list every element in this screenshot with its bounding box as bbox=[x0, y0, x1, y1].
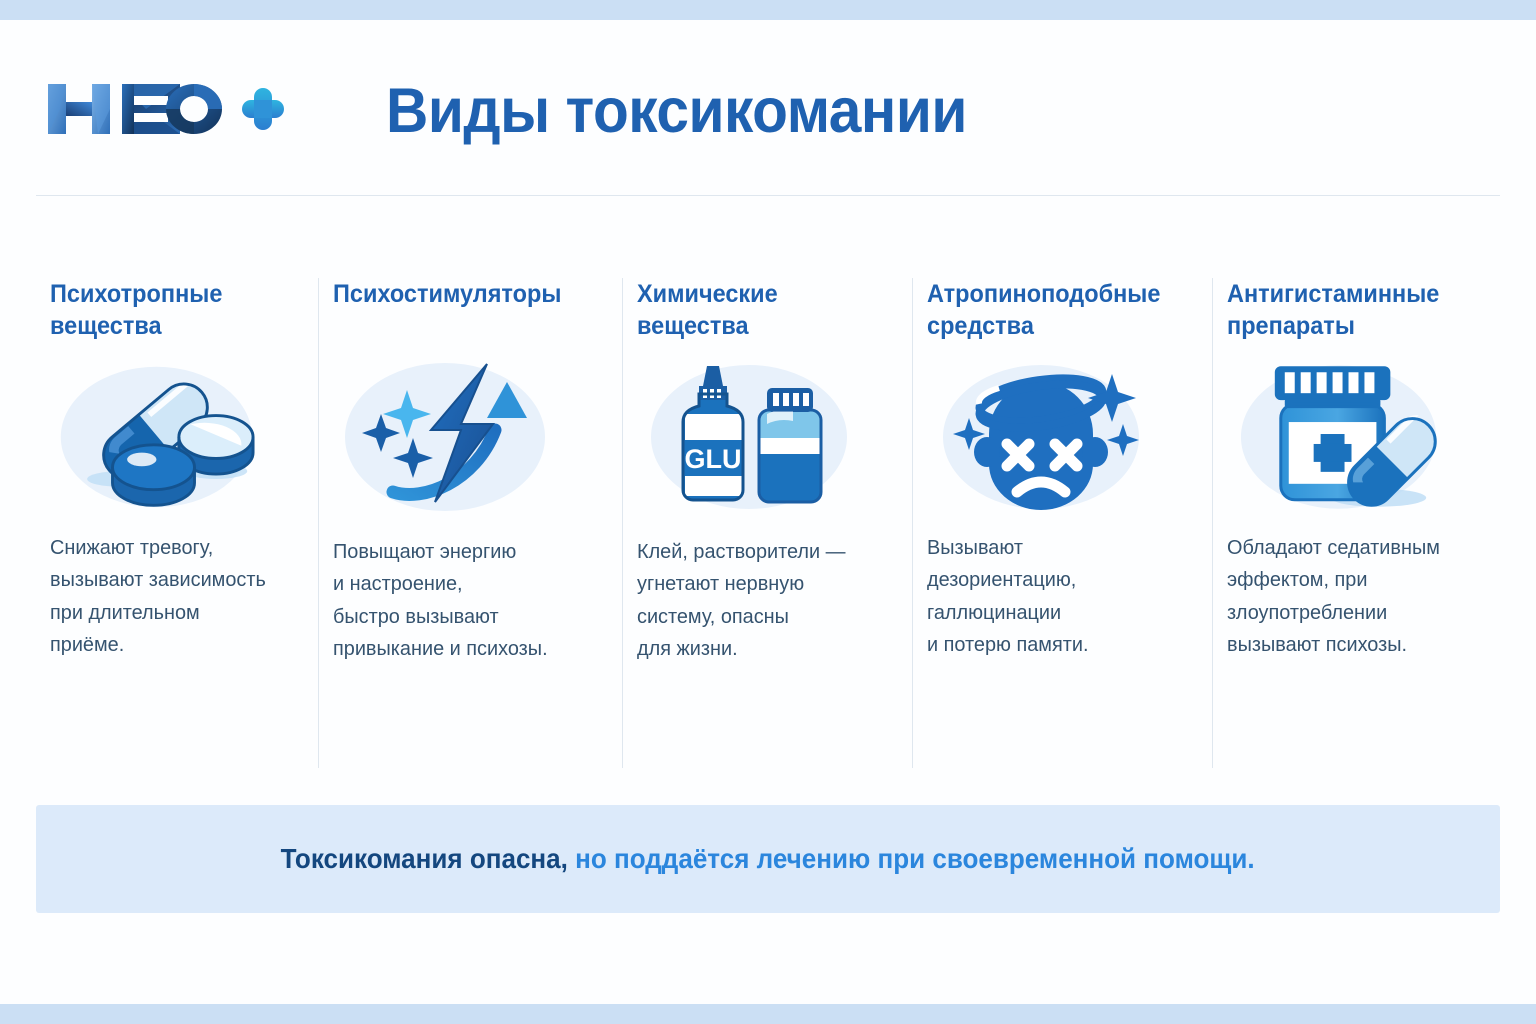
header-divider bbox=[36, 195, 1500, 196]
dizzy-face-icon bbox=[927, 352, 1190, 522]
category-card-antihistamines: Антигистаминные препараты bbox=[1212, 278, 1500, 768]
category-card-psychotropic: Психотропные вещества bbox=[36, 278, 318, 768]
category-card-chemicals: Химические вещества bbox=[622, 278, 912, 768]
category-description: Клей, растворители — угнетают нервную си… bbox=[637, 536, 882, 666]
footer-banner-text: Токсикомания опасна, но поддаётся лечени… bbox=[281, 843, 1255, 875]
category-title: Антигистаминные препараты bbox=[1227, 278, 1463, 344]
infographic-page: Виды токсикомании Психотропные вещества bbox=[0, 20, 1536, 1004]
lightning-bolt-arrow-icon bbox=[333, 352, 600, 522]
category-title: Атропиноподобные средства bbox=[927, 278, 1174, 344]
top-accent-band bbox=[0, 0, 1536, 20]
category-card-psychostimulants: Психостимуляторы bbox=[318, 278, 622, 768]
footer-banner: Токсикомания опасна, но поддаётся лечени… bbox=[36, 805, 1500, 913]
category-description: Повыщают энергию и настроение, быстро вы… bbox=[333, 536, 592, 666]
category-card-atropine-like: Атропиноподобные средства bbox=[912, 278, 1212, 768]
page-title: Виды токсикомании bbox=[386, 75, 967, 147]
category-title: Психотропные вещества bbox=[50, 278, 281, 344]
category-description: Обладают седативным эффектом, при злоупо… bbox=[1227, 532, 1470, 662]
footer-banner-light: но поддаётся лечению при своевременной п… bbox=[568, 843, 1255, 874]
category-description: Снижают тревогу, вызывают зависимость пр… bbox=[50, 532, 289, 662]
category-title: Психостимуляторы bbox=[333, 278, 584, 344]
bottom-accent-band bbox=[0, 1004, 1536, 1024]
glue-label: GLU bbox=[685, 444, 742, 474]
pill-bottle-capsule-icon bbox=[1227, 352, 1478, 522]
glue-solvent-bottles-icon: GLU bbox=[637, 352, 890, 522]
category-description: Вызывают дезориентацию, галлюцинации и п… bbox=[927, 532, 1182, 662]
pills-capsule-icon bbox=[50, 352, 296, 522]
category-title: Химические вещества bbox=[637, 278, 875, 344]
footer-banner-strong: Токсикомания опасна, bbox=[281, 843, 568, 874]
neo-plus-logo bbox=[46, 76, 286, 142]
categories-row: Психотропные вещества bbox=[36, 278, 1500, 768]
header: Виды токсикомании bbox=[0, 20, 1536, 190]
